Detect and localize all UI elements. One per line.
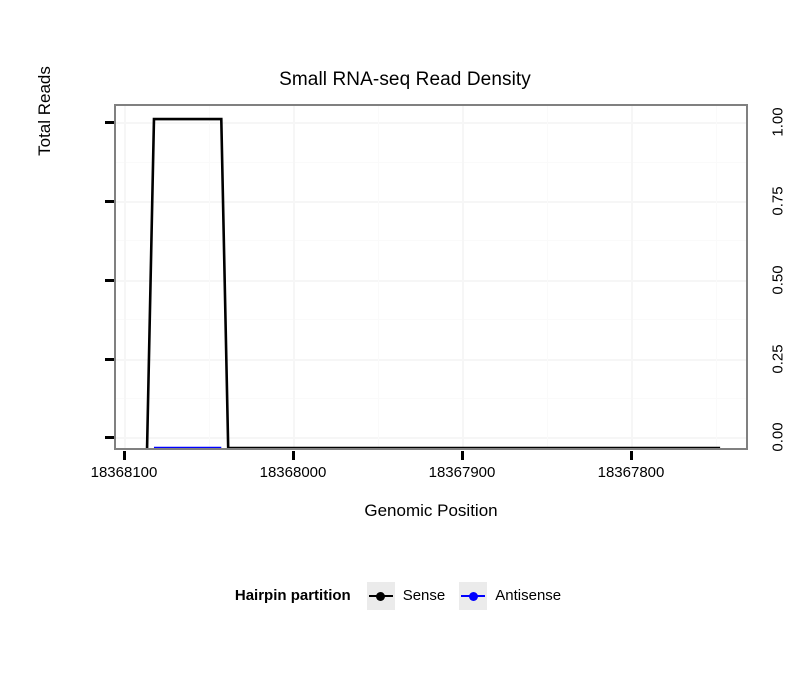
legend-label-antisense: Antisense bbox=[495, 586, 561, 606]
plot-panel-inner bbox=[116, 106, 746, 448]
y-tick-label-0.00: 0.00 bbox=[748, 428, 810, 446]
legend-label-sense: Sense bbox=[403, 586, 446, 606]
x-axis-title: Genomic Position bbox=[114, 500, 748, 522]
x-tick-mark-18367800 bbox=[630, 451, 633, 460]
y-tick-label-1.00: 1.00 bbox=[748, 113, 810, 131]
y-tick-mark-0.50 bbox=[105, 279, 114, 282]
legend: Hairpin partition Sense Antisense bbox=[0, 582, 810, 610]
y-axis-title: Total Reads bbox=[32, 11, 58, 211]
y-tick-mark-0.25 bbox=[105, 358, 114, 361]
series-svg bbox=[116, 106, 746, 448]
x-tick-mark-18368100 bbox=[123, 451, 126, 460]
chart-figure: Small RNA-seq Read Density Total Reads G… bbox=[0, 0, 810, 690]
legend-key-antisense bbox=[459, 582, 487, 610]
legend-key-dot-sense bbox=[376, 592, 385, 601]
y-axis-title-label: Total Reads bbox=[32, 11, 58, 211]
y-tick-label-0.50: 0.50 bbox=[748, 271, 810, 289]
plot-panel bbox=[114, 104, 748, 450]
legend-key-dot-antisense bbox=[469, 592, 478, 601]
y-tick-mark-0.75 bbox=[105, 200, 114, 203]
series-line-sense bbox=[147, 119, 720, 448]
x-tick-label-18368000: 18368000 bbox=[228, 464, 358, 482]
x-tick-label-18368100: 18368100 bbox=[59, 464, 189, 482]
x-tick-label-18367800: 18367800 bbox=[566, 464, 696, 482]
chart-title: Small RNA-seq Read Density bbox=[0, 68, 810, 92]
y-tick-mark-0.00 bbox=[105, 436, 114, 439]
legend-title: Hairpin partition bbox=[235, 586, 351, 606]
y-tick-mark-1.00 bbox=[105, 121, 114, 124]
y-tick-label-0.25: 0.25 bbox=[748, 350, 810, 368]
legend-item-sense[interactable]: Sense bbox=[367, 582, 446, 610]
x-tick-label-18367900: 18367900 bbox=[397, 464, 527, 482]
x-tick-mark-18368000 bbox=[292, 451, 295, 460]
legend-key-sense bbox=[367, 582, 395, 610]
y-tick-label-0.75: 0.75 bbox=[748, 192, 810, 210]
data-series-layer bbox=[116, 106, 746, 448]
legend-item-antisense[interactable]: Antisense bbox=[459, 582, 561, 610]
x-tick-mark-18367900 bbox=[461, 451, 464, 460]
